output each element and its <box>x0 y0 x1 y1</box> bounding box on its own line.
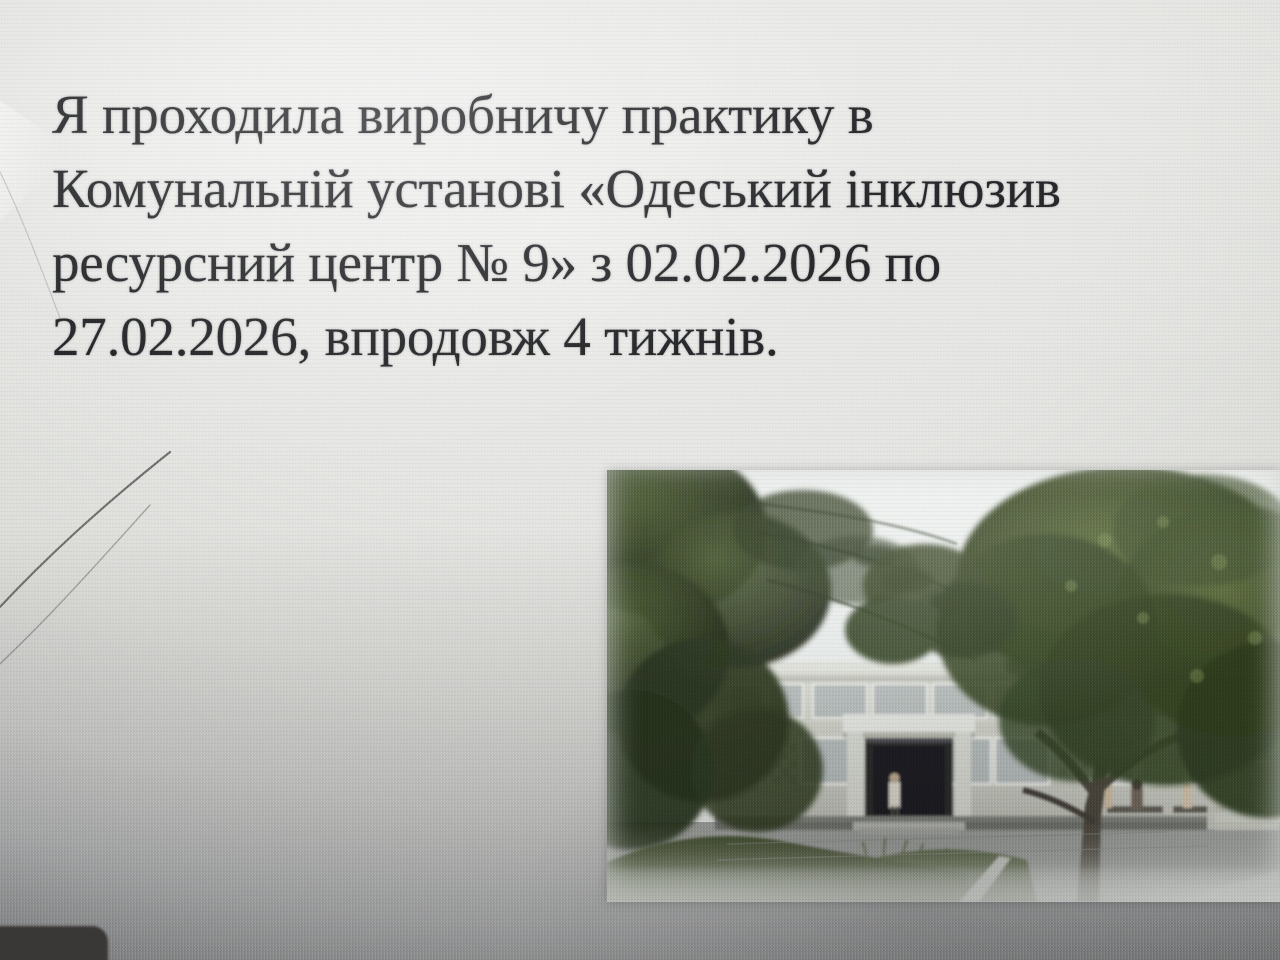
building-photo-illustration <box>607 470 1280 902</box>
monitor-photo-capture: Я проходила виробничу практику в Комунал… <box>0 0 1280 960</box>
slide-text-line-4: 27.02.2026, впродовж 4 тижнів. <box>52 300 1280 374</box>
slide-text-line-2: Комунальній установі «Одеський інклюзив <box>52 152 1280 226</box>
slide-photo-building <box>607 470 1280 902</box>
slide-text-line-1: Я проходила виробничу практику в <box>52 78 1280 152</box>
bezel-corner-object <box>0 926 108 960</box>
slide-text-line-3: ресурсний центр № 9» з 02.02.2026 по <box>52 226 1280 300</box>
slide-body-text: Я проходила виробничу практику в Комунал… <box>52 78 1280 374</box>
